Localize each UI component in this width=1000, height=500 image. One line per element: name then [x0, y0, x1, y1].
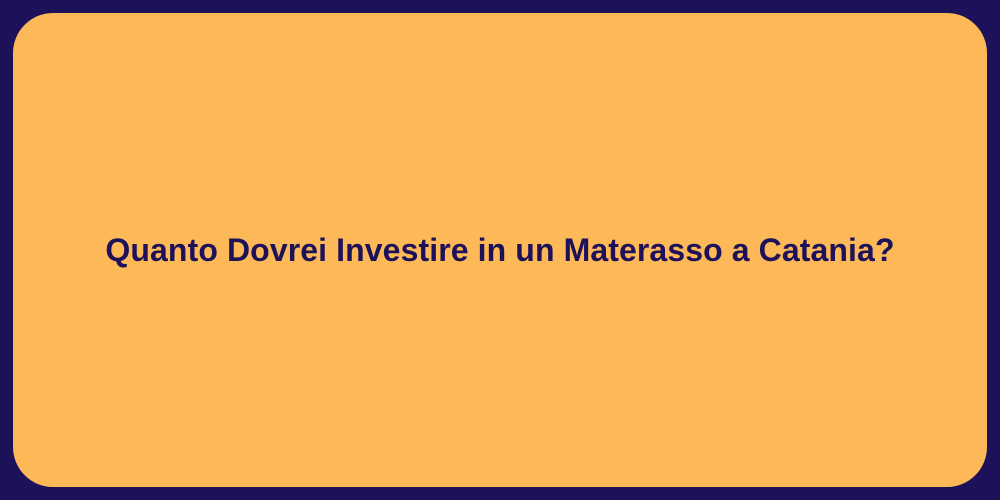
banner-frame: Quanto Dovrei Investire in un Materasso … — [0, 0, 1000, 500]
page-title: Quanto Dovrei Investire in un Materasso … — [65, 230, 934, 270]
banner-panel: Quanto Dovrei Investire in un Materasso … — [13, 13, 987, 487]
